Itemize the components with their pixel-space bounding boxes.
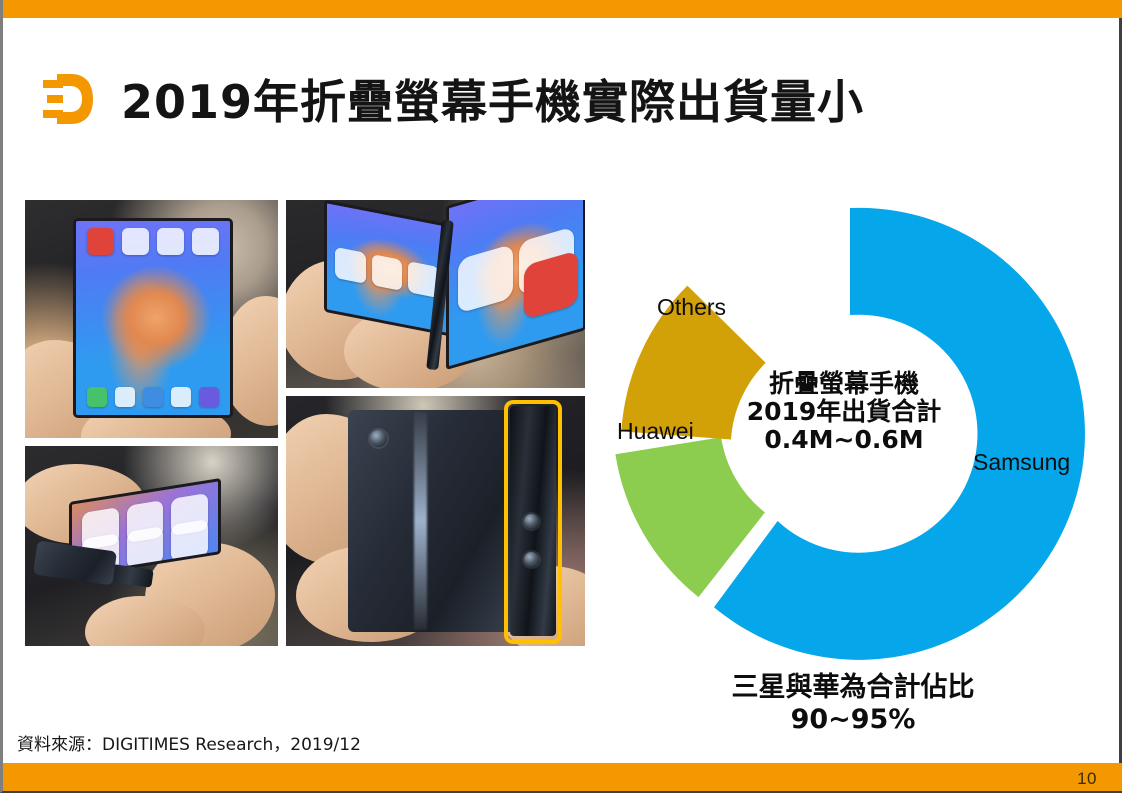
slide-canvas: 2019年折疊螢幕手機實際出貨量小 [0,0,1122,793]
bottom-accent-bar [3,763,1122,791]
top-accent-bar [3,0,1122,18]
digitimes-logo [41,70,95,128]
donut-center-label: 折疊螢幕手機 2019年出貨合計 0.4M~0.6M [723,354,965,470]
slice-label-others: Others [657,294,726,321]
photo-huawei-mate-x-half-folded [286,200,585,388]
photo-huawei-mate-x-folded-in-hand [25,446,278,646]
page-number: 10 [1077,769,1097,789]
chart-footnote: 三星與華為合計佔比 90~95% [643,672,1063,736]
photo-collage [25,200,585,646]
chart-footnote-line1: 三星與華為合計佔比 [643,672,1063,704]
photo-huawei-mate-x-unfolded-front [25,200,278,438]
center-line-3: 0.4M~0.6M [764,426,923,454]
highlight-box [504,400,562,644]
page-title: 2019年折疊螢幕手機實際出貨量小 [121,66,864,132]
slide-header: 2019年折疊螢幕手機實際出貨量小 [3,18,1122,150]
slice-label-samsung: Samsung [973,449,1070,476]
photo-huawei-mate-x-back-hinge [286,396,585,646]
source-note: 資料來源：DIGITIMES Research，2019/12 [17,730,361,755]
center-line-1: 折疊螢幕手機 [769,370,919,398]
slice-label-huawei: Huawei [617,418,694,445]
center-line-2: 2019年出貨合計 [747,398,942,426]
chart-footnote-line2: 90~95% [643,704,1063,736]
foldable-share-donut-chart: 折疊螢幕手機 2019年出貨合計 0.4M~0.6M Others Huawei… [595,196,1095,666]
